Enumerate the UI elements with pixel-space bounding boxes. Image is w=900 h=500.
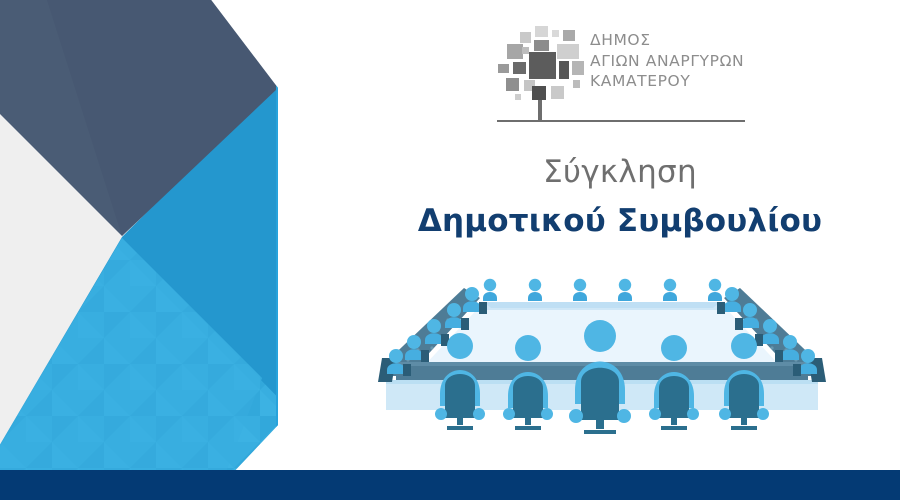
bottom-navy-bar [0,470,900,500]
logo-line-1: ΔΗΜΟΣ [590,30,765,51]
tree-of-squares-logo-icon [495,20,587,120]
logo-line-2: ΑΓΙΩΝ ΑΝΑΡΓΥΡΩΝ [590,51,765,72]
logo-wordmark: ΔΗΜΟΣ ΑΓΙΩΝ ΑΝΑΡΓΥΡΩΝ ΚΑΜΑΤΕΡΟΥ [590,30,765,92]
municipality-logo: ΔΗΜΟΣ ΑΓΙΩΝ ΑΝΑΡΓΥΡΩΝ ΚΑΜΑΤΕΡΟΥ [490,18,760,128]
geometric-corner-graphic [0,0,300,480]
council-meeting-illustration [372,258,832,463]
page-kicker: Σύγκληση [380,154,860,190]
poster-canvas: ΔΗΜΟΣ ΑΓΙΩΝ ΑΝΑΡΓΥΡΩΝ ΚΑΜΑΤΕΡΟΥ Σύγκληση… [0,0,900,500]
page-title: Δημοτικού Συμβουλίου [380,203,860,239]
logo-line-3: ΚΑΜΑΤΕΡΟΥ [590,71,765,92]
logo-divider-rule [497,120,745,122]
